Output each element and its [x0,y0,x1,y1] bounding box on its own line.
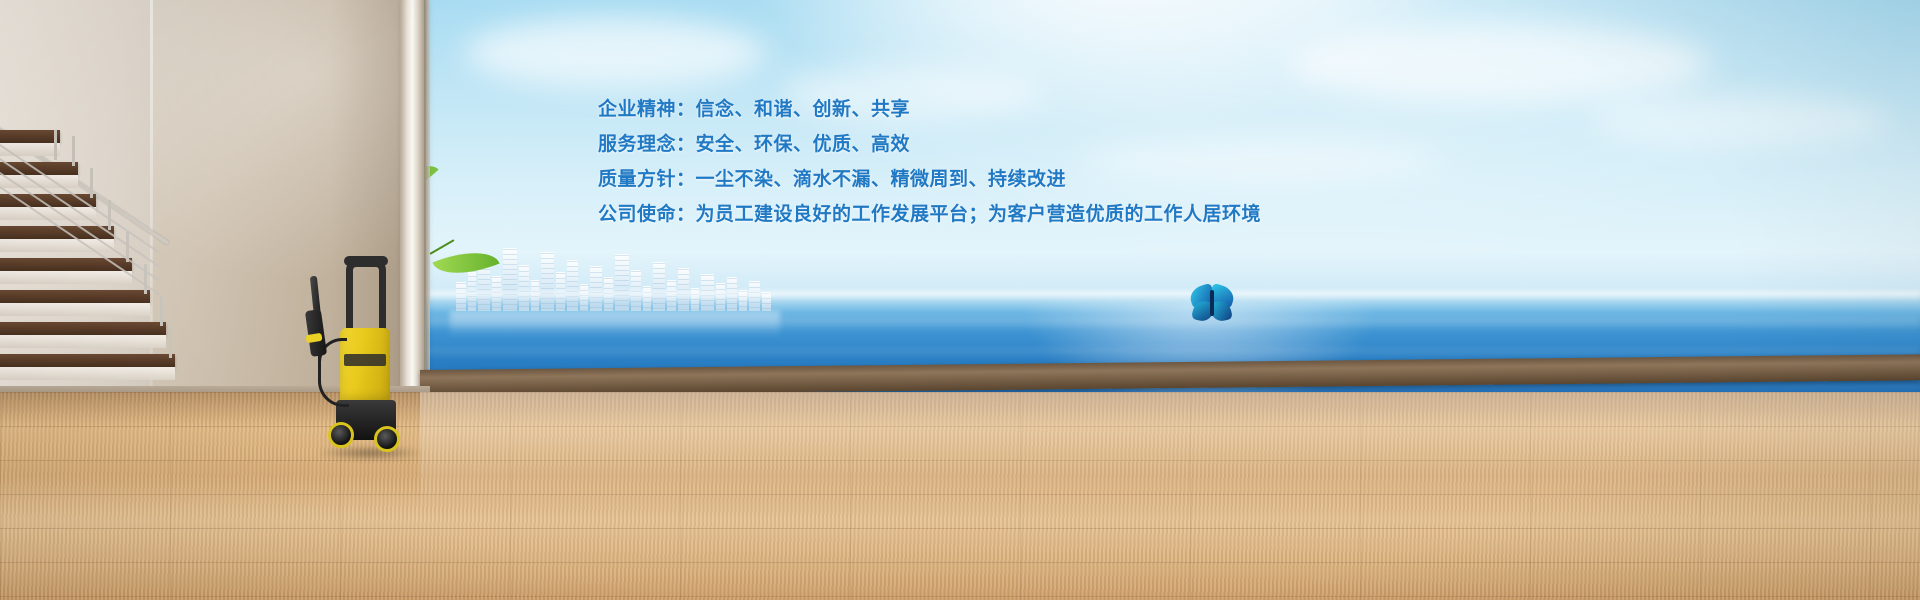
pressure-washer [300,250,430,455]
washer-label [344,354,386,366]
sea-wave-band [420,318,1920,332]
hero-banner: 企业精神：信念、和谐、创新、共享 服务理念：安全、环保、优质、高效 质量方针：一… [0,0,1920,600]
stair-baluster [54,130,57,160]
stair-tread [0,290,150,303]
stair-riser [0,239,114,252]
floor-reflection [420,392,1920,512]
slogan-line-4: 公司使命：为员工建设良好的工作发展平台；为客户营造优质的工作人居环境 [598,197,1358,232]
stair-baluster [90,168,93,198]
stair-riser [0,335,166,348]
stair-tread [0,130,60,143]
washer-handle [346,260,386,330]
stair-baluster [108,200,111,230]
stair-baluster [72,136,75,166]
slogan-line-3: 质量方针：一尘不染、滴水不漏、精微周到、持续改进 [598,162,1358,197]
butterfly-body [1210,290,1214,316]
cloud-icon [1590,96,1890,148]
skyline-building [519,265,529,311]
skyline-building [615,254,629,311]
washer-handle-grip [344,256,388,266]
slogan-line-2: 服务理念：安全、环保、优质、高效 [598,127,1358,162]
skyline-building [567,260,578,311]
skyline-building [590,266,602,311]
stair-riser [0,303,150,316]
skyline-building [678,268,689,311]
staircase [0,130,175,400]
washer-wheel [328,422,354,448]
skyline-building [541,252,554,311]
stair-riser [0,271,132,284]
butterfly-icon [1190,286,1234,324]
skyline-building [503,248,517,311]
skyline-building [653,262,665,311]
slogan-line-1: 企业精神：信念、和谐、创新、共享 [598,92,1358,127]
washer-shadow [316,446,426,460]
stair-riser [0,367,175,380]
washer-wheel [374,426,400,452]
slogan-block: 企业精神：信念、和谐、创新、共享 服务理念：安全、环保、优质、高效 质量方针：一… [598,92,1358,232]
stair-tread [0,322,166,335]
stair-baluster [169,328,172,358]
cloud-icon [465,18,765,88]
stair-baluster [160,296,163,326]
stair-tread [0,354,175,367]
